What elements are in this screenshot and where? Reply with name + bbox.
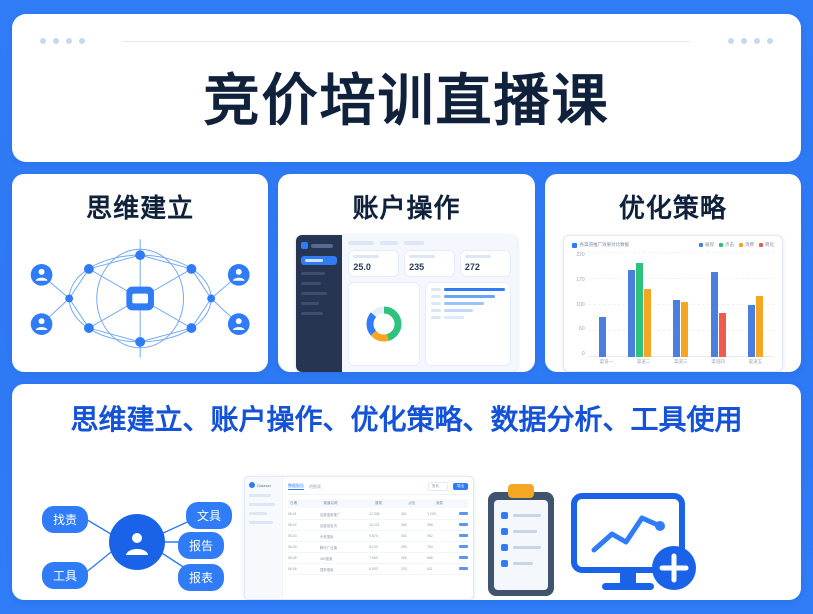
mock-sidebar: [296, 235, 342, 372]
table-cell: 06-01: [288, 512, 317, 517]
mock-search-input[interactable]: 搜索: [428, 482, 448, 491]
mock-tab[interactable]: 数据报告: [288, 483, 304, 490]
dot: [728, 38, 734, 44]
table-cell: 06-04: [288, 545, 317, 550]
table-cell: 341: [401, 534, 424, 539]
table-cell: 360搜索: [320, 556, 366, 561]
bubble-node[interactable]: 报表: [178, 564, 224, 591]
xtick: 渠道三: [674, 359, 688, 365]
feature-card-1[interactable]: 思维建立: [12, 174, 268, 372]
feature-card-3[interactable]: 优化策略 各渠道推广效果对比数据 展现 点击 消费 转化: [545, 174, 801, 372]
dot: [53, 38, 59, 44]
ytick: 170: [576, 277, 584, 283]
ytick: 100: [576, 302, 584, 308]
mock-brand: Dataset: [257, 483, 271, 488]
col: 消费: [436, 501, 466, 506]
table-row[interactable]: 06-04腾讯广点通8,120290764: [288, 545, 468, 553]
table-cell: 腾讯广点通: [320, 545, 366, 550]
mindmap-network-illustration: [12, 225, 268, 372]
bubble-node[interactable]: 报告: [178, 532, 224, 559]
mock-nav-active: [301, 256, 337, 265]
dots-left: [40, 38, 85, 44]
table-cell: 百度信息流: [320, 523, 366, 528]
bubble-node[interactable]: 找责: [42, 506, 88, 533]
bubble-node[interactable]: 工具: [42, 562, 88, 589]
row-status-badge: [459, 545, 468, 548]
table-cell: 611: [427, 567, 456, 572]
bubble-mindmap: 找责 工具 文具 报告 报表: [26, 482, 236, 600]
xtick: 渠道二: [637, 359, 651, 365]
monitor-illustration: [568, 478, 698, 600]
table-cell: 290: [401, 545, 424, 550]
ytick: 0: [582, 351, 585, 357]
bar-chart-illustration: 各渠道推广效果对比数据 展现 点击 消费 转化 220 170: [545, 225, 801, 372]
table-dashboard-mock: Dataset 数据报告 明细表 搜索 导出: [244, 476, 474, 600]
table-cell: 06-05: [288, 556, 317, 561]
table-cell: 12,308: [369, 512, 398, 517]
mock-body: 25.0 235 272: [342, 235, 516, 372]
table-cell: 百度搜索推广: [320, 512, 366, 517]
ytick: 220: [576, 252, 584, 258]
mindmap-center[interactable]: [109, 514, 165, 570]
xtick: 渠道五: [749, 359, 763, 365]
feature-card-2-title: 账户操作: [352, 188, 460, 225]
dots-right: [728, 38, 773, 44]
xtick: 渠道四: [711, 359, 725, 365]
table-cell: 6,903: [369, 567, 398, 572]
col: 日期: [290, 501, 320, 506]
table-row[interactable]: 06-01百度搜索推广12,3084821,203: [288, 512, 468, 520]
mock-side-nav: Dataset: [245, 477, 283, 599]
mock-tab[interactable]: 明细表: [309, 484, 321, 490]
network-icon: [12, 225, 268, 372]
dashboard-illustration: 25.0 235 272: [278, 225, 534, 372]
row-status-badge: [459, 523, 468, 526]
table-cell: 06-02: [288, 523, 317, 528]
bubble-node[interactable]: 文具: [186, 502, 232, 529]
poster-root: 竞价培训直播课 思维建立: [0, 0, 813, 614]
table-cell: 688: [427, 556, 456, 561]
summary-headline: 思维建立、账户操作、优化策略、数据分析、工具使用: [26, 398, 787, 438]
table-cell: 搜狗搜索: [320, 567, 366, 572]
page-title: 竞价培训直播课: [204, 56, 610, 137]
row-status-badge: [459, 567, 468, 570]
clipboard-checklist-icon: [482, 478, 560, 600]
dot: [754, 38, 760, 44]
dot: [40, 38, 46, 44]
row-status-badge: [459, 512, 468, 515]
feature-card-3-title: 优化策略: [619, 188, 727, 225]
dot: [741, 38, 747, 44]
table-cell: 764: [427, 545, 456, 550]
feature-card-1-title: 思维建立: [86, 188, 194, 225]
table-cell: 902: [427, 534, 456, 539]
col: 渠道名称: [323, 501, 372, 506]
mock-table-header: 日期 渠道名称 展现 点击 消费: [288, 499, 468, 508]
row-status-badge: [459, 534, 468, 537]
table-cell: 988: [427, 523, 456, 528]
donut-chart-icon: [362, 302, 406, 346]
dot: [66, 38, 72, 44]
summary-card: 思维建立、账户操作、优化策略、数据分析、工具使用 找责 工具 文具 报告 报表: [12, 384, 801, 600]
table-row[interactable]: 06-05360搜索7,540256688: [288, 556, 468, 564]
feature-cards: 思维建立: [12, 174, 801, 372]
dot: [767, 38, 773, 44]
table-cell: 9,874: [369, 534, 398, 539]
table-row[interactable]: 06-02百度信息流10,221365988: [288, 523, 468, 531]
table-cell: 10,221: [369, 523, 398, 528]
col: 展现: [375, 501, 405, 506]
dot: [79, 38, 85, 44]
summary-illustrations: 找责 工具 文具 报告 报表 Dat: [26, 438, 787, 600]
table-cell: 482: [401, 512, 424, 517]
title-card: 竞价培训直播课: [12, 14, 801, 162]
plus-circle-icon[interactable]: [650, 544, 698, 592]
xtick: 渠道一: [600, 359, 614, 365]
table-row[interactable]: 06-06搜狗搜索6,903233611: [288, 567, 468, 575]
table-cell: 06-03: [288, 534, 317, 539]
feature-card-2[interactable]: 账户操作: [278, 174, 534, 372]
title-divider: [122, 41, 691, 42]
mock-export-button[interactable]: 导出: [453, 483, 468, 490]
table-cell: 256: [401, 556, 424, 561]
table-cell: 7,540: [369, 556, 398, 561]
clipboard-illustration: [482, 478, 560, 600]
table-row[interactable]: 06-03头条搜索9,874341902: [288, 534, 468, 542]
table-cell: 头条搜索: [320, 534, 366, 539]
ytick: 60: [579, 326, 585, 332]
table-cell: 365: [401, 523, 424, 528]
user-icon: [122, 527, 152, 557]
table-cell: 8,120: [369, 545, 398, 550]
table-cell: 06-06: [288, 567, 317, 572]
row-status-badge: [459, 556, 468, 559]
col: 点击: [408, 501, 432, 506]
table-cell: 1,203: [427, 512, 456, 517]
table-cell: 233: [401, 567, 424, 572]
